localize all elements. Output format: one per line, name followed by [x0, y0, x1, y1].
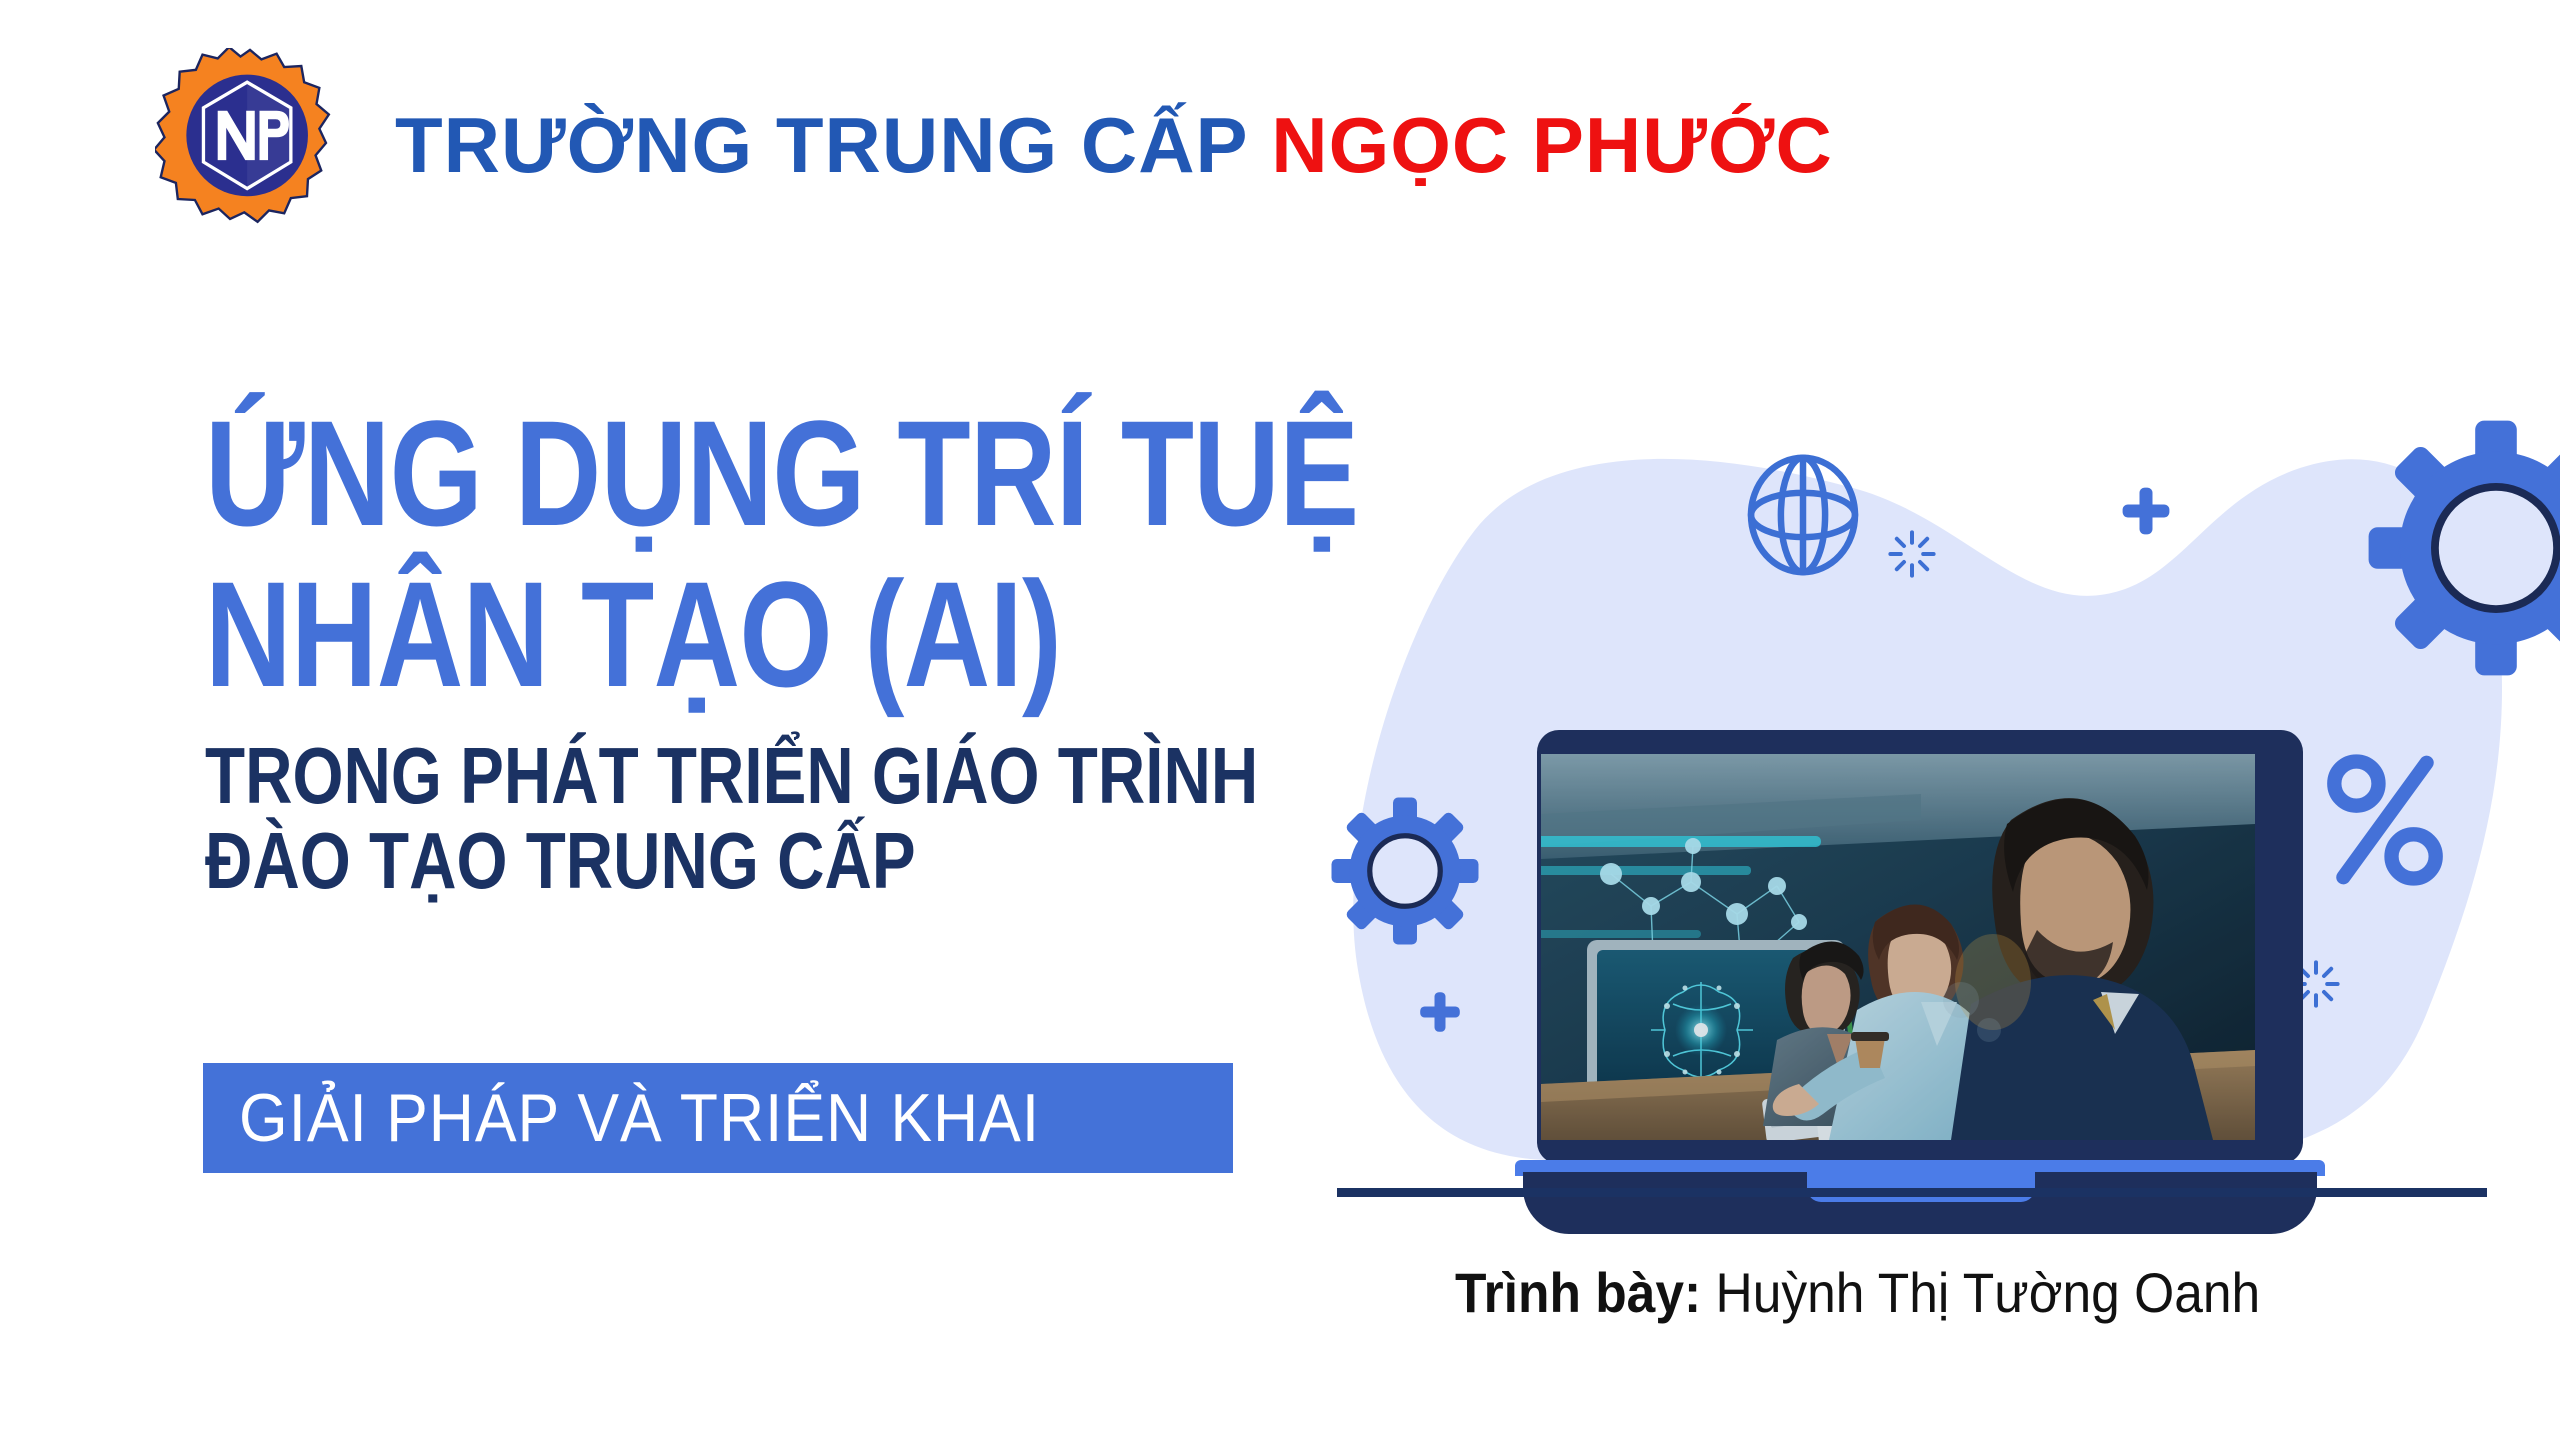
- globe-icon: [1738, 450, 1868, 580]
- plus-icon: [1418, 990, 1462, 1034]
- slide-subtitle-block: TRONG PHÁT TRIỂN GIÁO TRÌNH ĐÀO TẠO TRUN…: [205, 734, 1385, 904]
- header-title: TRƯỜNG TRUNG CẤP NGỌC PHƯỚC: [395, 106, 1833, 184]
- presenter-name: Huỳnh Thị Tường Oanh: [1716, 1261, 2261, 1324]
- desk-baseline: [1337, 1188, 2487, 1197]
- subtitle-line-1: TRONG PHÁT TRIỂN GIÁO TRÌNH: [205, 734, 1173, 819]
- slide-header: TRƯỜNG TRUNG CẤP NGỌC PHƯỚC: [0, 0, 2560, 230]
- gear-large-icon: [2366, 418, 2560, 678]
- solution-banner: GIẢI PHÁP VÀ TRIỂN KHAI: [203, 1063, 1233, 1173]
- plus-icon: [2120, 485, 2172, 537]
- slide-title-block: ỨNG DỤNG TRÍ TUỆ NHÂN TẠO (AI) TRONG PHÁ…: [205, 400, 1385, 904]
- header-title-primary: TRƯỜNG TRUNG CẤP: [395, 101, 1249, 189]
- laptop-trackpad-notch: [1807, 1172, 2035, 1202]
- percent-icon: [2320, 740, 2450, 900]
- presenter-label: Trình bày:: [1455, 1261, 1701, 1324]
- laptop-screen: [1541, 754, 2255, 1140]
- solution-banner-label: GIẢI PHÁP VÀ TRIỂN KHAI: [239, 1079, 1040, 1157]
- laptop-illustration: [1515, 730, 2325, 1230]
- title-line-2: NHÂN TẠO (AI): [205, 561, 1149, 708]
- title-line-1: ỨNG DỤNG TRÍ TUỆ: [205, 400, 1149, 547]
- subtitle-line-2: ĐÀO TẠO TRUNG CẤP: [205, 819, 1173, 904]
- school-logo: [155, 48, 345, 238]
- header-title-accent: NGỌC PHƯỚC: [1271, 101, 1833, 189]
- sparkle-icon: [1888, 530, 1936, 578]
- gear-small-icon: [1330, 796, 1480, 946]
- presenter-line: Trình bày: Huỳnh Thị Tường Oanh: [1455, 1260, 2260, 1325]
- hero-illustration: [1300, 390, 2560, 1210]
